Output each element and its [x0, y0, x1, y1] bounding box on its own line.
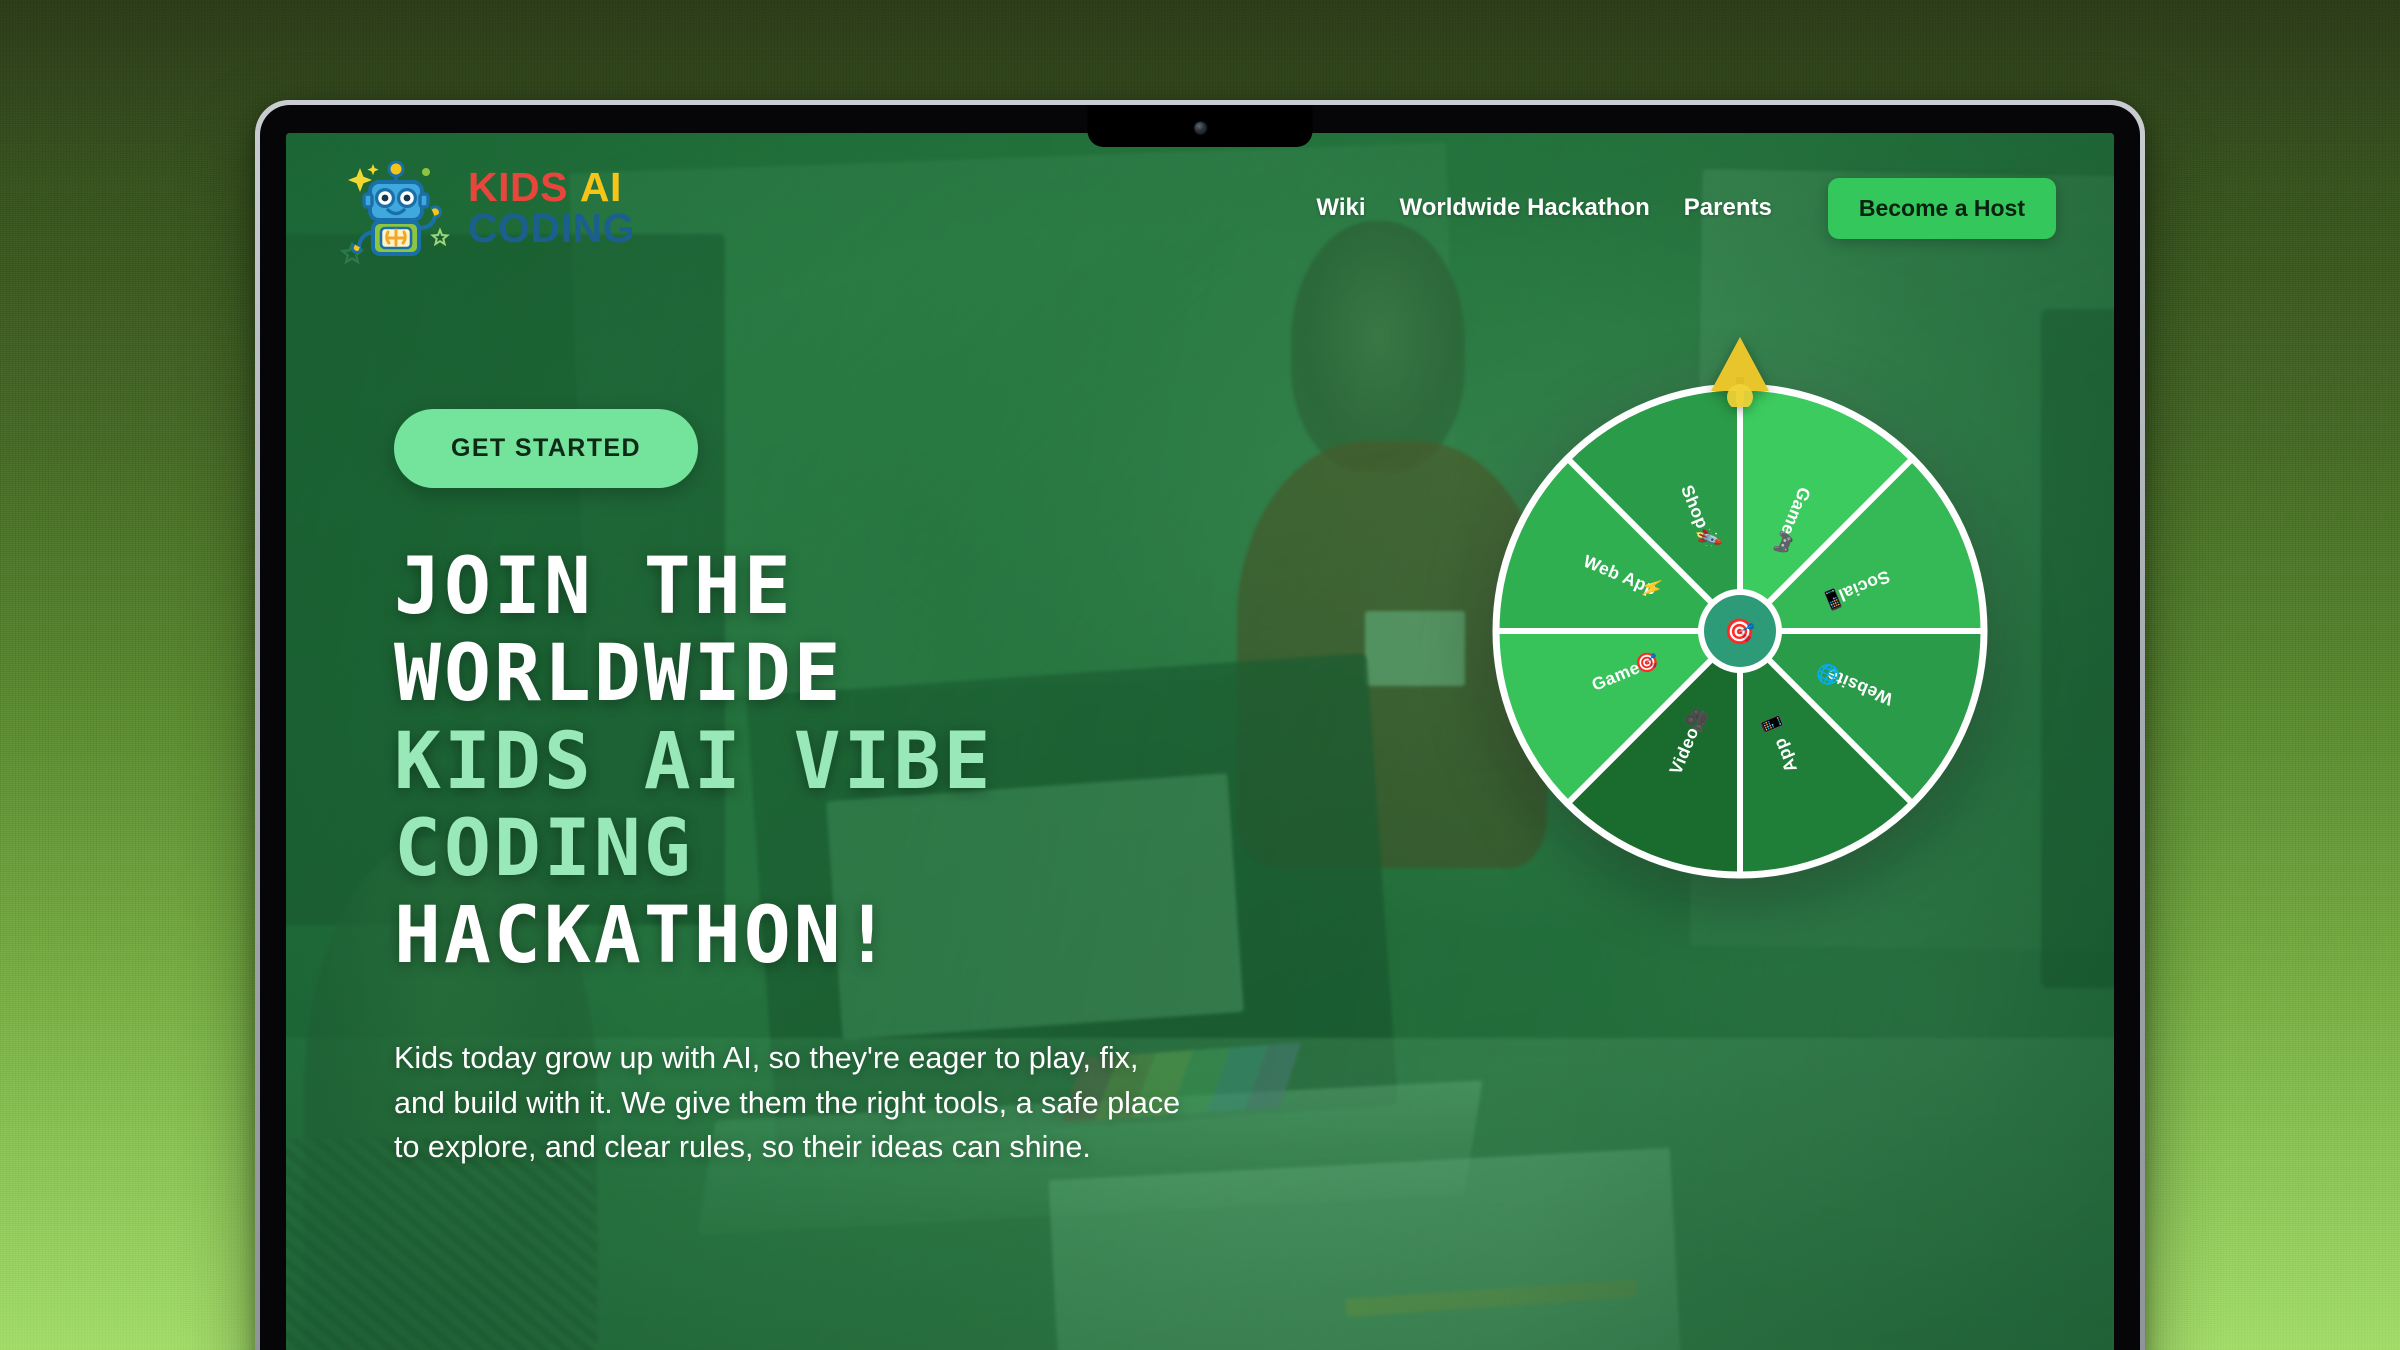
robot-icon	[340, 152, 452, 264]
main-navigation: Wiki Worldwide Hackathon Parents Become …	[1316, 178, 2056, 239]
laptop-bezel: KIDS AI CODING Wiki Worldwide Hackathon …	[260, 105, 2140, 1350]
laptop-screen: KIDS AI CODING Wiki Worldwide Hackathon …	[286, 133, 2114, 1350]
logo-word-kids: KIDS	[468, 164, 568, 210]
target-icon: 🎯	[1724, 618, 1755, 646]
laptop-mockup: KIDS AI CODING Wiki Worldwide Hackathon …	[255, 100, 2145, 1350]
laptop-notch	[1088, 105, 1313, 147]
spin-wheel-widget[interactable]: Game 🎮 Social 📱 Website 🌐	[1490, 333, 1990, 853]
logo-word-coding: CODING	[468, 208, 635, 249]
hero-paragraph: Kids today grow up with AI, so they're e…	[394, 1036, 1194, 1170]
nav-link-parents[interactable]: Parents	[1684, 194, 1772, 222]
headline-line-5: HACKATHON!	[394, 893, 2114, 980]
webcam-icon	[1194, 122, 1206, 134]
site-header: KIDS AI CODING Wiki Worldwide Hackathon …	[286, 133, 2114, 283]
logo-word-ai: AI	[580, 164, 622, 210]
triangle-pointer-icon	[1707, 333, 1773, 407]
logo-wordmark: KIDS AI CODING	[468, 167, 635, 249]
spin-wheel[interactable]: Game 🎮 Social 📱 Website 🌐	[1490, 381, 1990, 881]
logo-line-kids-ai: KIDS AI	[468, 167, 635, 208]
nav-link-wiki[interactable]: Wiki	[1316, 194, 1365, 222]
nav-link-worldwide-hackathon[interactable]: Worldwide Hackathon	[1400, 194, 1650, 222]
get-started-button[interactable]: GET STARTED	[394, 409, 698, 488]
become-a-host-button[interactable]: Become a Host	[1828, 178, 2056, 239]
site-logo[interactable]: KIDS AI CODING	[340, 152, 635, 264]
